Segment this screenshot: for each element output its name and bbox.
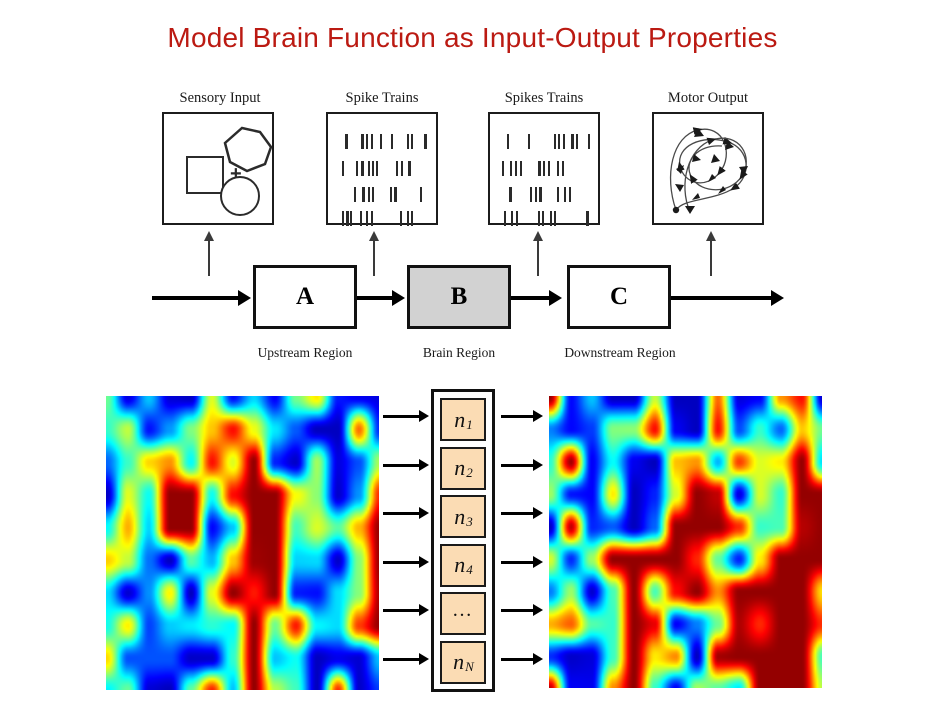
- spike-tick: [350, 211, 352, 226]
- spike-tick: [368, 161, 370, 176]
- spike-tick: [366, 211, 368, 226]
- spike-tick: [542, 211, 544, 226]
- arrow-a-to-b: [357, 296, 394, 300]
- slide-canvas: Model Brain Function as Input-Output Pro…: [0, 0, 945, 711]
- spike-tick: [342, 161, 344, 176]
- spike-tick: [345, 134, 347, 149]
- panel-label-spike-trains-2: Spikes Trains: [464, 90, 624, 107]
- neuron-output-arrow-6: [501, 658, 534, 661]
- spike-tick: [530, 187, 532, 202]
- region-label-upstream: Upstream Region: [225, 345, 385, 361]
- spike-tick: [411, 211, 413, 226]
- spike-tick: [557, 187, 559, 202]
- spike-tick: [504, 211, 506, 226]
- spike-tick: [396, 161, 398, 176]
- spike-tick: [550, 211, 552, 226]
- spike-tick: [516, 211, 518, 226]
- spike-tick: [390, 187, 392, 202]
- spike-tick: [346, 211, 348, 226]
- spike-trains-panel-1: [326, 112, 438, 225]
- neuron-label: n: [454, 407, 465, 433]
- spike-tick: [361, 134, 363, 149]
- neuron-label: n: [454, 504, 465, 530]
- neuron-subscript: 1: [466, 417, 473, 433]
- region-label-downstream: Downstream Region: [540, 345, 700, 361]
- neuron-box-1: n1: [440, 398, 486, 441]
- spike-tick: [535, 187, 537, 202]
- spike-tick: [520, 161, 522, 176]
- spike-tick: [407, 134, 409, 149]
- neuron-subscript: 4: [466, 562, 473, 578]
- neuron-input-arrow-5: [383, 609, 420, 612]
- spike-tick: [557, 161, 559, 176]
- page-title: Model Brain Function as Input-Output Pro…: [0, 22, 945, 54]
- spike-tick: [424, 134, 426, 149]
- spike-tick: [554, 134, 556, 149]
- spike-tick: [391, 134, 393, 149]
- neuron-input-arrow-6: [383, 658, 420, 661]
- neuron-box-5: …: [440, 592, 486, 635]
- neuron-box-4: n4: [440, 544, 486, 587]
- region-label-brain: Brain Region: [379, 345, 539, 361]
- neuron-label: n: [453, 649, 464, 675]
- spike-tick: [538, 161, 540, 176]
- vertical-arrow-motor: [710, 240, 712, 276]
- sensory-input-panel: +: [162, 112, 274, 225]
- circle-shape-icon: [220, 176, 260, 216]
- spike-tick: [548, 161, 550, 176]
- spike-tick: [576, 134, 578, 149]
- neuron-output-arrow-4: [501, 561, 534, 564]
- spike-tick: [401, 161, 403, 176]
- spike-tick: [411, 134, 413, 149]
- block-a: A: [253, 265, 357, 329]
- input-arrow-to-block-a: [152, 296, 240, 300]
- neuron-box-2: n2: [440, 447, 486, 490]
- arrow-b-to-c: [511, 296, 551, 300]
- spike-tick: [554, 211, 556, 226]
- block-b: B: [407, 265, 511, 329]
- spike-tick: [360, 211, 362, 226]
- neuron-output-arrow-1: [501, 415, 534, 418]
- spike-tick: [510, 161, 512, 176]
- spike-tick: [571, 134, 573, 149]
- neuron-input-arrow-2: [383, 464, 420, 467]
- neuron-subscript: 3: [466, 514, 473, 530]
- spike-tick: [528, 134, 530, 149]
- spike-tick: [543, 161, 545, 176]
- neuron-label: n: [454, 455, 465, 481]
- spike-tick: [515, 161, 517, 176]
- neuron-subscript: 2: [466, 465, 473, 481]
- square-shape-icon: [186, 156, 224, 194]
- neuron-label: n: [454, 552, 465, 578]
- neuron-output-arrow-5: [501, 609, 534, 612]
- spike-tick: [356, 161, 358, 176]
- panel-label-motor-output: Motor Output: [628, 90, 788, 107]
- neuron-box-3: n3: [440, 495, 486, 538]
- spike-tick: [502, 161, 504, 176]
- spike-tick: [371, 211, 373, 226]
- spike-tick: [539, 187, 541, 202]
- block-c: C: [567, 265, 671, 329]
- spike-tick: [408, 161, 410, 176]
- heptagon-shape-icon: [222, 126, 274, 174]
- spike-tick: [342, 211, 344, 226]
- neuron-label: …: [452, 599, 474, 622]
- vertical-arrow-spikes-1: [373, 240, 375, 276]
- neuron-output-arrow-3: [501, 512, 534, 515]
- spike-tick: [394, 187, 396, 202]
- spike-tick: [372, 187, 374, 202]
- spike-tick: [569, 187, 571, 202]
- spike-tick: [563, 134, 565, 149]
- spike-tick: [509, 187, 511, 202]
- spike-tick: [400, 211, 402, 226]
- spike-tick: [371, 134, 373, 149]
- neuron-box-6: nN: [440, 641, 486, 684]
- spike-tick: [511, 211, 513, 226]
- output-arrow-from-block-c: [671, 296, 773, 300]
- neuron-input-arrow-3: [383, 512, 420, 515]
- spike-tick: [354, 187, 356, 202]
- spike-tick: [538, 211, 540, 226]
- spike-tick: [376, 161, 378, 176]
- motor-output-panel: [652, 112, 764, 225]
- spike-tick: [362, 187, 364, 202]
- spike-trains-panel-2: [488, 112, 600, 225]
- motor-trajectory-icon: [654, 114, 762, 223]
- neuron-stack-container: n1n2n3n4…nN: [431, 389, 495, 692]
- neuron-subscript: N: [465, 659, 474, 675]
- vertical-arrow-spikes-2: [537, 240, 539, 276]
- spike-tick: [507, 134, 509, 149]
- panel-label-spike-trains-1: Spike Trains: [302, 90, 462, 107]
- spike-tick: [407, 211, 409, 226]
- output-activity-heatmap: [549, 396, 822, 688]
- spike-tick: [558, 134, 560, 149]
- spike-tick: [380, 134, 382, 149]
- spike-tick: [586, 211, 588, 226]
- neuron-output-arrow-2: [501, 464, 534, 467]
- input-activity-heatmap: [106, 396, 379, 690]
- spike-tick: [372, 161, 374, 176]
- panel-label-sensory-input: Sensory Input: [140, 90, 300, 107]
- neuron-input-arrow-1: [383, 415, 420, 418]
- neuron-input-arrow-4: [383, 561, 420, 564]
- spike-tick: [361, 161, 363, 176]
- vertical-arrow-sensory: [208, 240, 210, 276]
- spike-tick: [366, 134, 368, 149]
- spike-tick: [368, 187, 370, 202]
- spike-tick: [562, 161, 564, 176]
- spike-tick: [588, 134, 590, 149]
- spike-tick: [420, 187, 422, 202]
- spike-tick: [564, 187, 566, 202]
